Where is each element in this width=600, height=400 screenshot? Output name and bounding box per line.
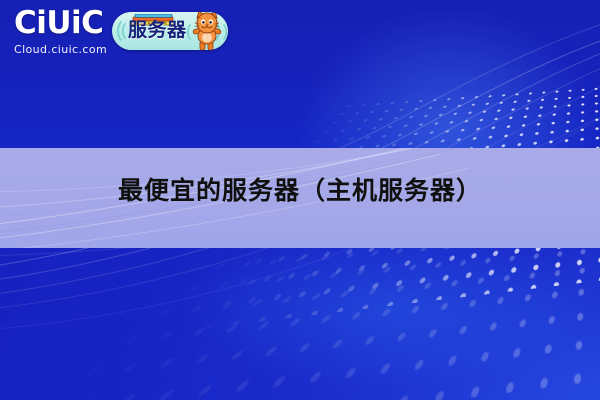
title-band: 最便宜的服务器（主机服务器） (0, 148, 600, 248)
orange-cat-mascot-icon (186, 12, 228, 50)
logo-subtitle: Cloud.ciuic.com (14, 44, 107, 55)
badge-label: 服务器 (128, 21, 187, 40)
server-badge: 服务器 (112, 12, 228, 50)
logo[interactable]: CiUiC Cloud.ciuic.com (14, 8, 107, 55)
banner-image: 最便宜的服务器（主机服务器） CiUiC Cloud.ciuic.com (0, 0, 600, 400)
page-title: 最便宜的服务器（主机服务器） (118, 178, 482, 203)
logo-wordmark: CiUiC (14, 8, 107, 39)
